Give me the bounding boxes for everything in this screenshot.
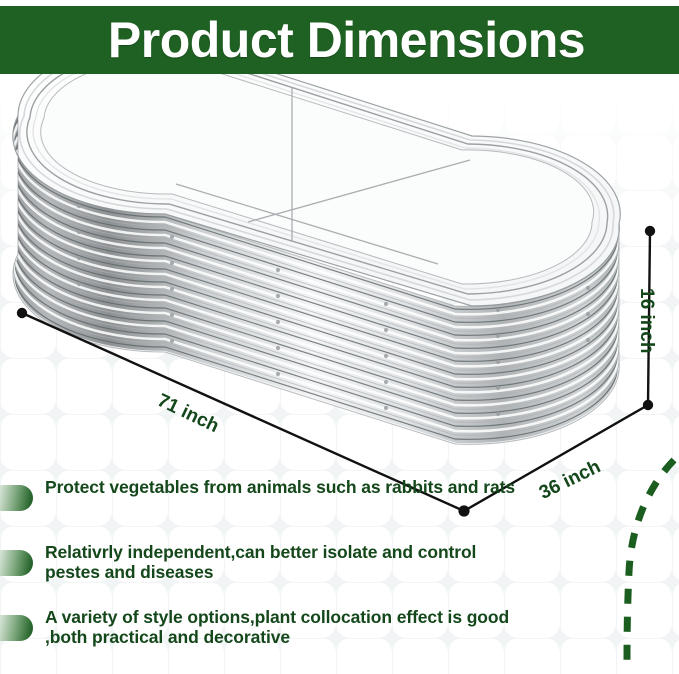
panel-rivets: [77, 178, 590, 416]
feature-list: Protect vegetables from animals such as …: [0, 478, 679, 673]
list-item: Protect vegetables from animals such as …: [0, 478, 679, 543]
height-dimension-label: 16 inch: [635, 288, 657, 353]
bullet-pill-icon: [0, 485, 33, 511]
product-dimensions-infographic: Product Dimensions: [0, 0, 679, 674]
feature-text: A variety of style options,plant colloca…: [45, 608, 515, 648]
list-item: Relativrly independent,can better isolat…: [0, 543, 679, 608]
length-dimension-label: 71 inch: [154, 390, 223, 438]
feature-text: Relativrly independent,can better isolat…: [45, 543, 515, 583]
bullet-pill-icon: [0, 615, 33, 641]
header-banner: Product Dimensions: [0, 6, 679, 74]
list-item: A variety of style options,plant colloca…: [0, 608, 679, 673]
feature-text: Protect vegetables from animals such as …: [45, 478, 515, 498]
bullet-pill-icon: [0, 550, 33, 576]
page-title: Product Dimensions: [94, 15, 585, 65]
rim-rivets: [94, 148, 592, 280]
bed-top-rim: [13, 72, 620, 306]
interior-divider: [176, 88, 470, 264]
bed-outline: [13, 116, 619, 444]
bed-side-wall: [0, 102, 679, 462]
